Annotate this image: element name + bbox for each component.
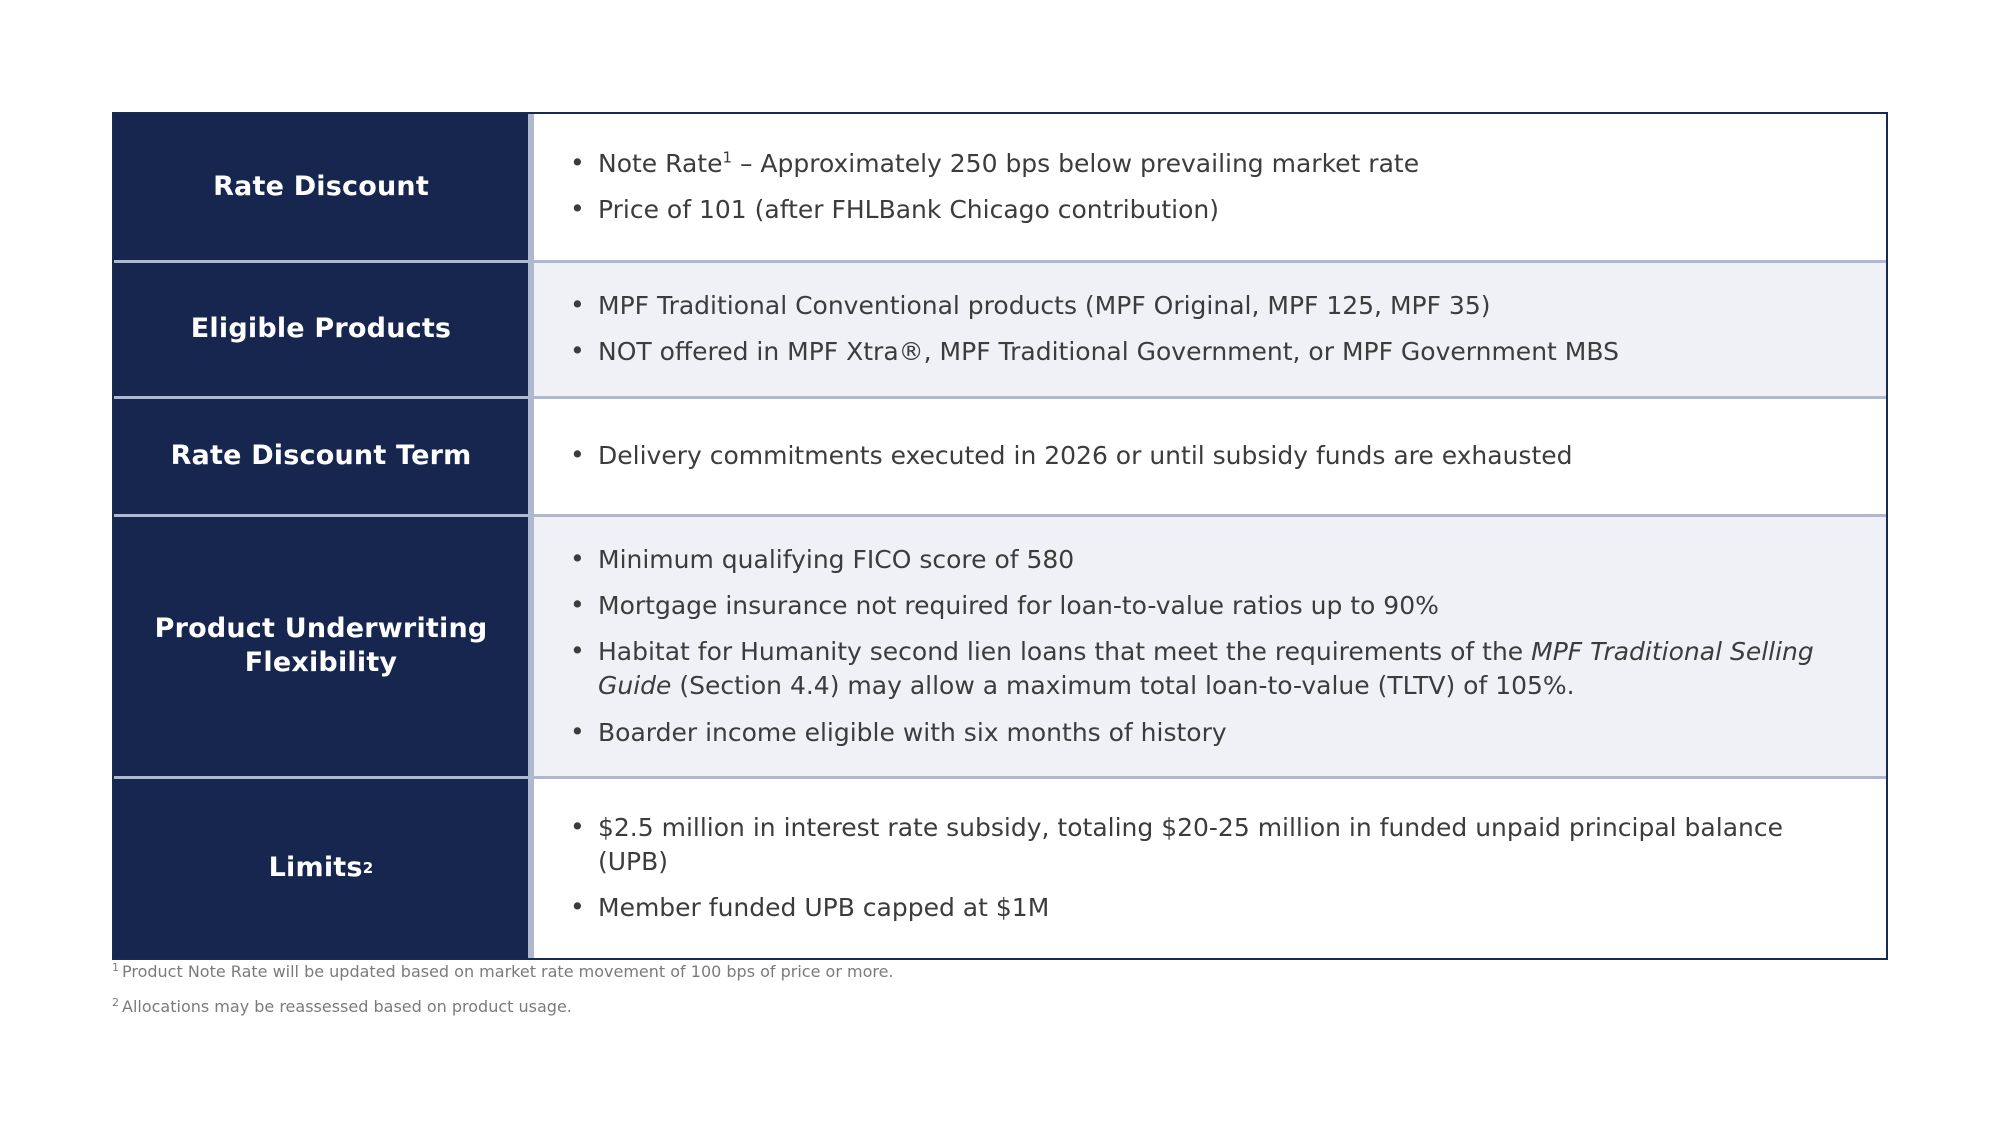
row-content-cell: Note Rate1 – Approximately 250 bps below… [534, 114, 1886, 260]
bullet-text: $2.5 million in interest rate subsidy, t… [598, 813, 1783, 876]
row-label-cell: Eligible Products [114, 263, 534, 396]
bullet-text: Boarder income eligible with six months … [598, 718, 1227, 747]
bullet-text: Minimum qualifying FICO score of 580 [598, 545, 1074, 574]
footnote-text: Allocations may be reassessed based on p… [122, 997, 572, 1016]
bullet-list: Minimum qualifying FICO score of 580 Mor… [564, 543, 1858, 750]
row-label-text: Limits [269, 851, 363, 886]
bullet-text: Note Rate [598, 149, 722, 178]
table-row: Limits2 $2.5 million in interest rate su… [114, 776, 1886, 958]
row-content-cell: $2.5 million in interest rate subsidy, t… [534, 779, 1886, 958]
bullet-text: Mortgage insurance not required for loan… [598, 591, 1439, 620]
slide-canvas: Rate Discount Note Rate1 – Approximately… [0, 0, 2000, 1125]
row-label-cell: Product Underwriting Flexibility [114, 517, 534, 776]
bullet-text-suffix: (Section 4.4) may allow a maximum total … [671, 671, 1574, 700]
table-row: Rate Discount Note Rate1 – Approximately… [114, 114, 1886, 260]
product-spec-table: Rate Discount Note Rate1 – Approximately… [112, 112, 1888, 960]
list-item: Price of 101 (after FHLBank Chicago cont… [564, 193, 1858, 227]
bullet-list: Note Rate1 – Approximately 250 bps below… [564, 147, 1858, 228]
bullet-text: NOT offered in MPF Xtra®, MPF Traditiona… [598, 337, 1619, 366]
table-row: Product Underwriting Flexibility Minimum… [114, 514, 1886, 776]
bullet-text-suffix: – Approximately 250 bps below prevailing… [732, 149, 1419, 178]
row-label-text: Rate Discount Term [171, 439, 472, 474]
row-content-cell: Delivery commitments executed in 2026 or… [534, 399, 1886, 514]
bullet-text: Member funded UPB capped at $1M [598, 893, 1049, 922]
row-label-text: Eligible Products [191, 312, 451, 347]
list-item: Delivery commitments executed in 2026 or… [564, 439, 1858, 473]
row-label-text: Product Underwriting Flexibility [140, 612, 502, 681]
list-item: Member funded UPB capped at $1M [564, 891, 1858, 925]
list-item: Minimum qualifying FICO score of 580 [564, 543, 1858, 577]
list-item: MPF Traditional Conventional products (M… [564, 289, 1858, 323]
bullet-list: Delivery commitments executed in 2026 or… [564, 439, 1858, 473]
row-content-cell: Minimum qualifying FICO score of 580 Mor… [534, 517, 1886, 776]
footnotes-block: 1Product Note Rate will be updated based… [112, 960, 1612, 1030]
list-item: $2.5 million in interest rate subsidy, t… [564, 811, 1858, 880]
bullet-superscript: 1 [722, 148, 732, 166]
bullet-text: MPF Traditional Conventional products (M… [598, 291, 1491, 320]
table-row: Rate Discount Term Delivery commitments … [114, 396, 1886, 514]
row-content-cell: MPF Traditional Conventional products (M… [534, 263, 1886, 396]
bullet-text: Price of 101 (after FHLBank Chicago cont… [598, 195, 1219, 224]
footnote-marker: 2 [112, 996, 119, 1009]
list-item: NOT offered in MPF Xtra®, MPF Traditiona… [564, 335, 1858, 369]
list-item: Note Rate1 – Approximately 250 bps below… [564, 147, 1858, 181]
row-label-cell: Limits2 [114, 779, 534, 958]
row-label-text: Rate Discount [213, 170, 429, 205]
row-label-cell: Rate Discount [114, 114, 534, 260]
footnote-text: Product Note Rate will be updated based … [122, 962, 894, 981]
footnote: 1Product Note Rate will be updated based… [112, 960, 1612, 984]
list-item: Mortgage insurance not required for loan… [564, 589, 1858, 623]
table-row: Eligible Products MPF Traditional Conven… [114, 260, 1886, 396]
row-label-cell: Rate Discount Term [114, 399, 534, 514]
bullet-text: Habitat for Humanity second lien loans t… [598, 637, 1531, 666]
bullet-list: $2.5 million in interest rate subsidy, t… [564, 811, 1858, 926]
footnote: 2Allocations may be reassessed based on … [112, 995, 1612, 1019]
list-item: Habitat for Humanity second lien loans t… [564, 635, 1858, 704]
bullet-text: Delivery commitments executed in 2026 or… [598, 441, 1573, 470]
footnote-marker: 1 [112, 961, 119, 974]
bullet-list: MPF Traditional Conventional products (M… [564, 289, 1858, 370]
list-item: Boarder income eligible with six months … [564, 716, 1858, 750]
